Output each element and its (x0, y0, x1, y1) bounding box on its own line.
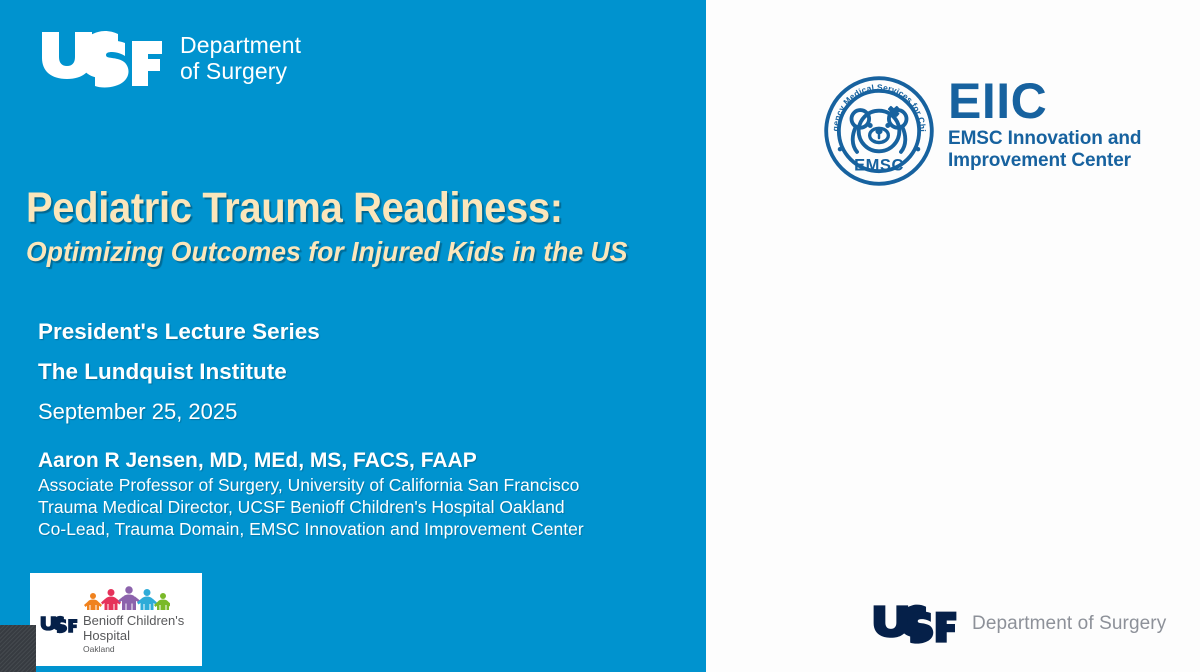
eiic-wordmark: EIIC EMSC Innovation and Improvement Cen… (948, 76, 1141, 172)
title-block: Pediatric Trauma Readiness: Optimizing O… (26, 186, 686, 267)
svg-text:Emergency Medical Services for: Emergency Medical Services for Children (824, 76, 928, 132)
ucsf-header-logo-text: Department of Surgery (180, 33, 301, 85)
speaker-block: Aaron R Jensen, MD, MEd, MS, FACS, FAAP … (38, 448, 584, 540)
speaker-affiliation-line: Associate Professor of Surgery, Universi… (38, 474, 584, 496)
speaker-name: Aaron R Jensen, MD, MEd, MS, FACS, FAAP (38, 448, 584, 474)
ucsf-department-of-surgery-footer-logo: Department of Surgery (872, 604, 1166, 644)
benioff-hospital-name: Benioff Children's Hospital (83, 613, 184, 643)
ucsf-department-of-surgery-header-logo: Department of Surgery (40, 30, 301, 88)
lecture-series-name: President's Lecture Series (38, 312, 320, 352)
figure-green (154, 593, 170, 610)
emsc-seal-arc-text: Emergency Medical Services for Children (824, 76, 928, 132)
emsc-seal-bottom-text: EMSC (854, 157, 904, 175)
figure-blue (137, 589, 157, 610)
figure-purple (118, 586, 140, 610)
figure-red (101, 589, 121, 610)
emsc-seal-icon: Emergency Medical Services for Children (824, 76, 934, 186)
children-holding-hands-icon (84, 585, 170, 611)
benioff-name-row: Benioff Children's Hospital Oakland (40, 613, 194, 654)
ucsf-logo-icon (40, 613, 78, 634)
venue-name: The Lundquist Institute (38, 352, 320, 392)
benioff-hospital-city: Oakland (83, 644, 184, 654)
ucsf-logo-icon (40, 30, 164, 88)
figure-orange (84, 593, 102, 610)
eiic-logo: Emergency Medical Services for Children (824, 76, 1141, 186)
ucsf-logo-icon (872, 604, 958, 644)
ucsf-footer-logo-text: Department of Surgery (972, 613, 1166, 635)
benioff-childrens-hospital-logo: Benioff Children's Hospital Oakland (30, 573, 202, 666)
slide-title: Pediatric Trauma Readiness: (26, 186, 640, 232)
corner-overlay-artifact (0, 625, 36, 672)
speaker-affiliation-line: Co-Lead, Trauma Domain, EMSC Innovation … (38, 518, 584, 540)
event-info-block: President's Lecture Series The Lundquist… (38, 312, 320, 432)
speaker-affiliation-line: Trauma Medical Director, UCSF Benioff Ch… (38, 496, 584, 518)
slide-subtitle: Optimizing Outcomes for Injured Kids in … (26, 237, 653, 268)
eiic-full-name: EMSC Innovation and Improvement Center (948, 128, 1141, 172)
event-date: September 25, 2025 (38, 392, 320, 432)
presentation-slide: Department of Surgery Pediatric Trauma R… (0, 0, 1200, 672)
eiic-abbreviation: EIIC (948, 78, 1141, 124)
